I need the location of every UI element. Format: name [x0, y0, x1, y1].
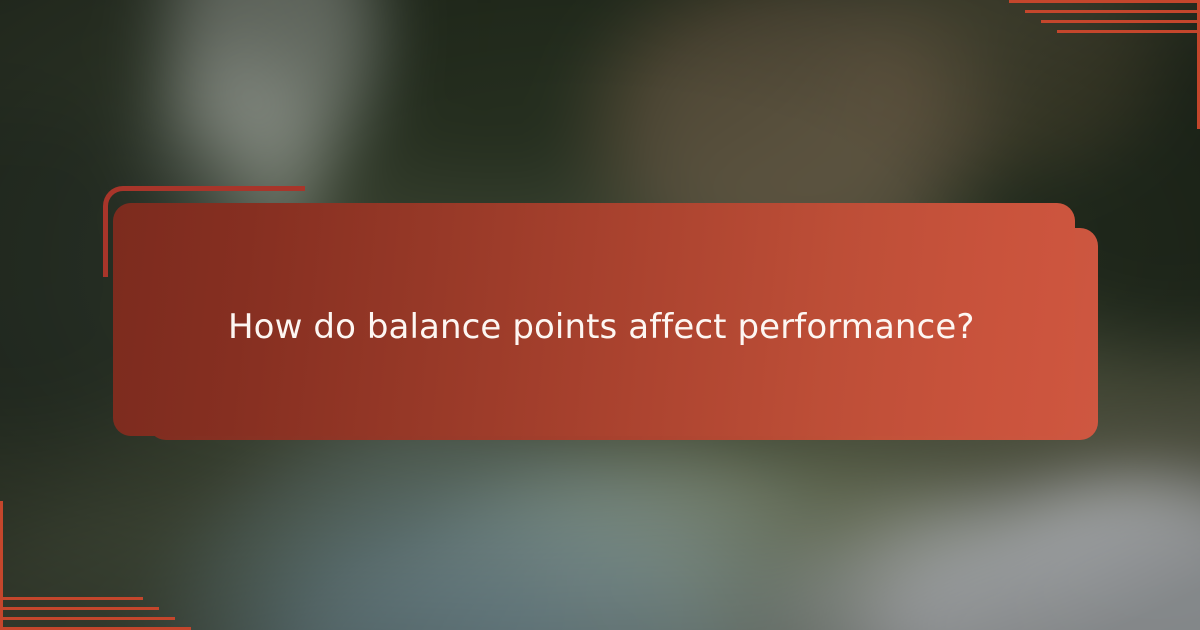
- promo-card-graphic: How do balance points affect performance…: [0, 0, 1200, 630]
- card-headline: How do balance points affect performance…: [228, 305, 1048, 349]
